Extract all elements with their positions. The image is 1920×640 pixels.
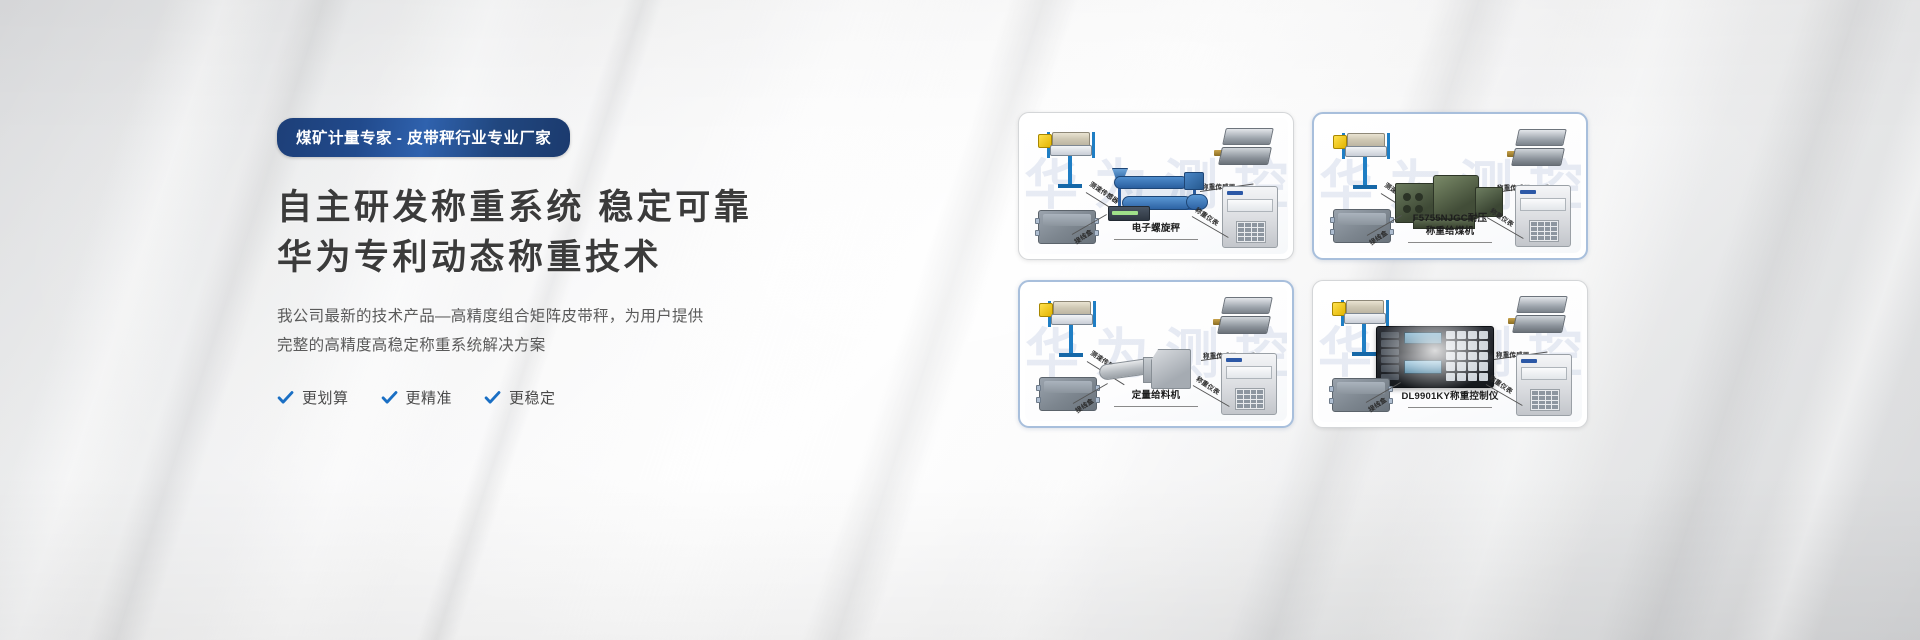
card-title: 定量给料机 [1025,390,1287,407]
card-title-text-2: 称重给煤机 [1426,226,1475,237]
load-cell-icon [1508,296,1570,344]
feature-label-0: 更划算 [302,387,349,408]
headline-line-1: 自主研发称重系统 稳定可靠 [277,188,752,227]
headline-line-2: 华为专利动态称重技术 [277,233,897,283]
card-title-text: DL9901KY称重控制仪 [1401,391,1498,402]
card-title: 电子螺旋秤 [1024,223,1288,240]
feature-label-2: 更稳定 [509,387,556,408]
card-title-text: F5755NJGC耐压 [1413,213,1488,224]
product-card-quantitative-feeder[interactable]: 华为测控 测速传感器 称重传感器 [1018,280,1294,428]
check-icon [484,389,501,406]
dl9901ky-controller-device [1376,326,1494,388]
hero-copy: 煤矿计量专家 - 皮带秤行业专业厂家 自主研发称重系统 稳定可靠 华为专利动态称… [277,118,897,408]
card-title-text: 电子螺旋秤 [1132,223,1181,234]
hero-banner: 煤矿计量专家 - 皮带秤行业专业厂家 自主研发称重系统 稳定可靠 华为专利动态称… [0,0,1920,640]
feature-item-2: 更稳定 [484,387,556,408]
card-title: F5755NJGC耐压 称重给煤机 [1319,213,1581,243]
load-cell-icon [1214,128,1276,176]
card-title: DL9901KY称重控制仪 [1318,391,1582,408]
load-cell-icon [1213,297,1275,345]
feature-item-0: 更划算 [277,387,349,408]
product-card-f5755njgc-coal-feeder[interactable]: 华为测控 测速传感器 称重传感器 [1312,112,1588,260]
quantitative-feeder-machine [1099,347,1199,395]
product-card-dl9901ky-controller[interactable]: 华为测控 测速传感器 称重传感器 [1312,280,1588,428]
load-cell-icon [1507,129,1569,177]
check-icon [381,389,398,406]
hero-description: 我公司最新的技术产品—高精度组合矩阵皮带秤，为用户提供完整的高精度高稳定称重系统… [277,303,717,360]
product-card-electronic-spiral-scale[interactable]: 华为测控 测速传感器 称重传感器 [1018,112,1294,260]
feature-list: 更划算 更精准 更稳定 [277,387,897,408]
feature-item-1: 更精准 [381,387,453,408]
page-title: 自主研发称重系统 稳定可靠 华为专利动态称重技术 [277,183,897,282]
controller-box-icon [1108,206,1150,221]
product-card-grid: 华为测控 测速传感器 称重传感器 [1018,112,1608,428]
feature-label-1: 更精准 [406,387,453,408]
check-icon [277,389,294,406]
tagline-badge: 煤矿计量专家 - 皮带秤行业专业厂家 [277,118,570,157]
card-title-text: 定量给料机 [1132,390,1181,401]
